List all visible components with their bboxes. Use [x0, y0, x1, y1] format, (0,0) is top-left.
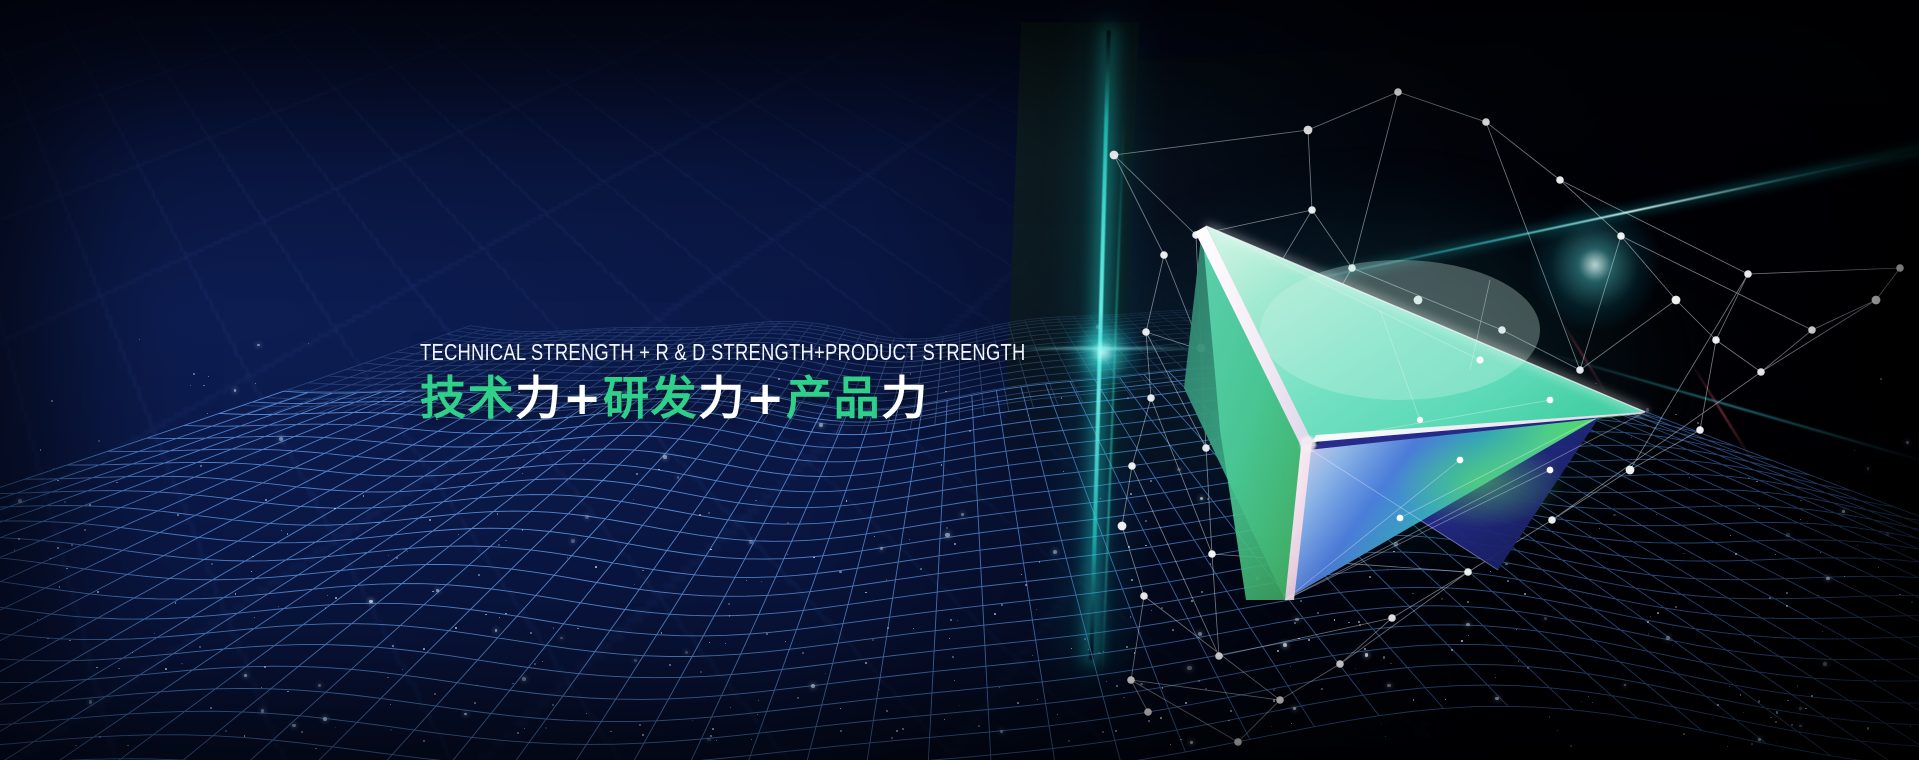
- particle-dot: [278, 606, 280, 608]
- particle-dot: [1570, 745, 1572, 747]
- particle-dot: [99, 736, 101, 738]
- particle-dot: [716, 740, 717, 741]
- particle-dot: [66, 568, 68, 570]
- particle-dot: [1797, 685, 1798, 686]
- headline-segment-5: 力: [881, 371, 929, 425]
- particle-dot: [954, 680, 955, 681]
- particle-dot: [96, 667, 97, 668]
- particle-dot: [1911, 601, 1913, 603]
- particle-dot: [1098, 652, 1100, 654]
- particle-dot: [1592, 702, 1593, 703]
- particle-dot: [1867, 727, 1869, 729]
- particle-dot: [692, 720, 694, 722]
- particle-dot: [261, 687, 263, 689]
- particle-dot: [534, 663, 536, 665]
- particle-dot: [1776, 711, 1778, 713]
- particle-dot: [758, 700, 759, 701]
- particle-dot: [363, 495, 365, 497]
- particle-dot: [477, 685, 478, 686]
- particle-dot: [751, 739, 752, 740]
- particle-dot: [390, 729, 392, 731]
- particle-dot: [97, 591, 99, 593]
- particle-dot: [1822, 631, 1823, 632]
- particle-dot: [1787, 700, 1789, 702]
- particle-dot: [1657, 612, 1659, 614]
- particle-dot: [872, 639, 874, 641]
- particle-dot: [264, 666, 266, 668]
- particle-dot: [1032, 655, 1033, 656]
- particle-dot: [40, 449, 42, 451]
- particle-dot: [255, 383, 256, 384]
- particle-dot: [18, 499, 22, 503]
- particle-dot: [1770, 717, 1771, 718]
- particle-dot: [699, 514, 701, 516]
- particle-dot: [1844, 576, 1846, 578]
- particle-dot: [1390, 663, 1392, 665]
- particle-dot: [1334, 619, 1336, 621]
- particle-dot: [1037, 699, 1038, 700]
- particle-dot: [423, 740, 425, 742]
- particle-dot: [766, 633, 768, 635]
- particle-dot: [1468, 635, 1469, 636]
- particle-dot: [429, 519, 430, 520]
- particle-dot: [261, 709, 265, 713]
- particle-dot: [1381, 723, 1382, 724]
- particle-dot: [369, 600, 373, 604]
- particle-dot: [909, 539, 910, 540]
- particle-dot: [265, 499, 267, 501]
- particle-dot: [1775, 721, 1777, 723]
- particle-dot: [879, 689, 880, 690]
- particle-dot: [251, 571, 252, 572]
- particle-dot: [281, 530, 282, 531]
- particle-dot: [498, 544, 500, 546]
- particle-dot: [710, 735, 712, 737]
- particle-dot: [1036, 609, 1037, 610]
- particle-dot: [458, 534, 459, 535]
- particle-dot: [1518, 660, 1519, 661]
- particle-dot: [1758, 700, 1760, 702]
- particle-dot: [1017, 702, 1019, 704]
- particle-dot: [1102, 731, 1104, 733]
- particle-dot: [1805, 708, 1806, 709]
- particle-dot: [396, 557, 398, 559]
- particle-dot: [193, 373, 194, 374]
- particle-dot: [1134, 652, 1136, 654]
- particle-dot: [887, 627, 889, 629]
- particle-dot: [292, 724, 296, 728]
- particle-dot: [1321, 688, 1323, 690]
- particle-dot: [402, 669, 403, 670]
- particle-dot: [950, 619, 952, 621]
- particle-dot: [485, 614, 487, 616]
- particle-dot: [71, 544, 73, 546]
- particle-dot: [517, 732, 519, 734]
- particle-dot: [1466, 623, 1470, 627]
- particle-dot: [1786, 605, 1788, 607]
- particle-dot: [1025, 584, 1027, 586]
- particle-dot: [1126, 646, 1128, 648]
- particle-dot: [118, 668, 120, 670]
- particle-dot: [1495, 677, 1496, 678]
- particle-dot: [1198, 632, 1202, 636]
- particle-dot: [610, 731, 611, 732]
- particle-dot: [944, 719, 945, 720]
- particle-dot: [522, 473, 523, 474]
- particle-dot: [1365, 653, 1368, 656]
- particle-dot: [1727, 746, 1728, 747]
- particle-dot: [1791, 724, 1793, 726]
- particle-dot: [874, 536, 875, 537]
- particle-dot: [1820, 552, 1821, 553]
- particle-dot: [545, 727, 547, 729]
- particle-dot: [165, 668, 167, 670]
- particle-dot: [1842, 510, 1845, 513]
- particle-dot: [50, 558, 51, 559]
- particle-dot: [1811, 695, 1813, 697]
- particle-dot: [1817, 595, 1819, 597]
- particle-dot: [1205, 688, 1207, 690]
- particle-dot: [802, 652, 804, 654]
- particle-dot: [1683, 733, 1685, 735]
- hero-eyebrow: TECHNICAL STRENGTH + R & D STRENGTH+PROD…: [420, 341, 1025, 364]
- particle-dot: [57, 480, 59, 482]
- particle-dot: [728, 603, 730, 605]
- particle-dot: [499, 617, 500, 618]
- particle-dot: [1358, 621, 1360, 623]
- particle-dot: [323, 717, 327, 721]
- particle-dot: [18, 538, 19, 539]
- particle-dot: [325, 607, 327, 609]
- particle-dot: [825, 673, 826, 674]
- particle-dot: [978, 725, 980, 727]
- particle-dot: [1775, 554, 1776, 555]
- particle-dot: [1106, 681, 1107, 682]
- particle-dot: [663, 455, 667, 459]
- particle-dot: [203, 385, 205, 387]
- particle-dot: [199, 646, 201, 648]
- particle-dot: [392, 645, 394, 647]
- particle-dot: [712, 728, 714, 730]
- particle-dot: [69, 640, 71, 642]
- particle-dot: [1549, 716, 1550, 717]
- particle-dot: [1355, 668, 1356, 669]
- particle-dot: [761, 581, 762, 582]
- particle-dot: [571, 539, 575, 543]
- particle-dot: [1053, 550, 1057, 554]
- particle-dot: [952, 656, 953, 657]
- particle-dot: [257, 344, 260, 347]
- particle-dot: [787, 554, 788, 555]
- particle-dot: [1740, 694, 1741, 695]
- particle-dot: [969, 430, 971, 432]
- particle-dot: [301, 731, 303, 733]
- particle-dot: [1088, 649, 1089, 650]
- particle-dot: [1198, 680, 1200, 682]
- particle-dot: [1730, 535, 1731, 536]
- particle-dot: [636, 473, 638, 475]
- particle-dot: [1185, 702, 1187, 704]
- particle-dot: [811, 684, 815, 688]
- particle-dot: [583, 459, 585, 461]
- particle-dot: [530, 632, 532, 634]
- particle-dot: [658, 469, 660, 471]
- particle-dot: [787, 522, 789, 524]
- particle-dot: [1291, 723, 1292, 724]
- particle-dot: [132, 652, 134, 654]
- particle-dot: [335, 727, 336, 728]
- particle-dot: [407, 551, 408, 552]
- particle-dot: [954, 543, 956, 545]
- particle-dot: [1857, 545, 1858, 546]
- particle-dot: [1298, 638, 1300, 640]
- particle-dot: [1387, 684, 1391, 688]
- particle-dot: [1878, 567, 1880, 569]
- particle-dot: [1230, 710, 1232, 712]
- particle-dot: [755, 500, 757, 502]
- particle-dot: [1650, 616, 1651, 617]
- particle-dot: [840, 730, 842, 732]
- particle-dot: [1516, 629, 1517, 630]
- particle-dot: [730, 707, 731, 708]
- particle-dot: [423, 648, 425, 650]
- particle-dot: [1170, 744, 1172, 746]
- particle-dot: [1228, 720, 1230, 722]
- particle-dot: [1899, 594, 1901, 596]
- particle-dot: [957, 620, 958, 621]
- hero-headline: 技术力+研发力+产品力: [420, 375, 1177, 421]
- particle-dot: [945, 533, 949, 537]
- particle-dot: [1084, 638, 1086, 640]
- particle-dot: [633, 499, 634, 500]
- particle-dot: [785, 641, 786, 642]
- particle-dot: [1647, 621, 1649, 623]
- particle-dot: [710, 549, 711, 550]
- particle-dot: [181, 663, 183, 665]
- particle-dot: [327, 595, 328, 596]
- headline-segment-4: 产品: [786, 371, 881, 425]
- particle-dot: [1364, 648, 1366, 650]
- particle-dot: [994, 613, 996, 615]
- particle-dot: [497, 513, 499, 515]
- particle-dot: [865, 592, 866, 593]
- particle-dot: [1445, 699, 1446, 700]
- particle-dot: [949, 638, 950, 639]
- hero-copy: TECHNICAL STRENGTH + R & D STRENGTH+PROD…: [420, 341, 1177, 421]
- particle-dot: [661, 632, 663, 634]
- particle-dot: [1769, 597, 1771, 599]
- particle-dot: [89, 504, 91, 506]
- particle-dot: [234, 389, 237, 392]
- particle-dot: [1751, 743, 1753, 745]
- particle-dot: [1290, 666, 1291, 667]
- particle-dot: [839, 571, 841, 573]
- particle-dot: [1867, 467, 1870, 470]
- particle-dot: [1160, 717, 1162, 719]
- particle-dot: [1854, 450, 1855, 451]
- particle-dot: [757, 714, 758, 715]
- particle-dot: [434, 693, 436, 695]
- particle-dot: [33, 682, 34, 683]
- particle-dot: [1748, 477, 1750, 479]
- particle-dot: [585, 515, 589, 519]
- particle-dot: [552, 704, 554, 706]
- particle-dot: [315, 748, 317, 750]
- particle-dot: [185, 620, 186, 621]
- particle-dot: [1754, 641, 1755, 642]
- particle-dot: [252, 556, 254, 558]
- particle-dot: [1581, 701, 1583, 703]
- particle-dot: [634, 584, 635, 585]
- particle-dot: [388, 555, 389, 556]
- particle-dot: [1071, 648, 1073, 650]
- particle-dot: [84, 529, 86, 531]
- particle-dot: [1000, 730, 1003, 733]
- particle-dot: [1359, 624, 1361, 626]
- particle-dot: [200, 465, 202, 467]
- particle-dot: [98, 440, 100, 442]
- particle-dot: [432, 591, 434, 593]
- particle-dot: [1786, 533, 1790, 537]
- headline-segment-3: 力+: [698, 371, 786, 425]
- particle-dot: [891, 737, 893, 739]
- particle-dot: [1273, 689, 1275, 691]
- particle-dot: [729, 615, 731, 617]
- particle-dot: [1906, 441, 1909, 444]
- particle-dot: [1148, 720, 1150, 722]
- particle-dot: [225, 730, 227, 732]
- particle-dot: [634, 659, 637, 662]
- particle-dot: [749, 540, 753, 544]
- particle-dot: [1317, 612, 1319, 614]
- particle-dot: [1115, 730, 1117, 732]
- particle-dot: [642, 734, 644, 736]
- particle-dot: [1140, 683, 1143, 686]
- particle-dot: [1800, 519, 1801, 520]
- particle-dot: [1786, 592, 1788, 594]
- particle-dot: [1495, 697, 1499, 701]
- particle-dot: [999, 687, 1000, 688]
- particle-dot: [1294, 622, 1296, 624]
- particle-dot: [1823, 662, 1827, 666]
- particle-dot: [474, 702, 476, 704]
- particle-dot: [639, 724, 641, 726]
- particle-dot: [1385, 736, 1386, 737]
- particle-dot: [1057, 714, 1059, 716]
- particle-dot: [464, 713, 467, 716]
- particle-dot: [1273, 701, 1275, 703]
- particle-dot: [211, 563, 213, 565]
- particle-dot: [1544, 617, 1547, 620]
- particle-dot: [913, 628, 914, 629]
- particle-dot: [1648, 633, 1649, 634]
- particle-dot: [1123, 697, 1125, 699]
- particle-dot: [677, 476, 680, 479]
- particle-dot: [700, 671, 702, 673]
- particle-dot: [89, 700, 93, 704]
- particle-dot: [57, 547, 59, 549]
- particle-dot: [1666, 636, 1670, 640]
- particle-dot: [1068, 740, 1070, 742]
- particle-dot: [685, 651, 688, 654]
- particle-dot: [920, 568, 922, 570]
- particle-dot: [14, 549, 15, 550]
- particle-dot: [1740, 474, 1741, 475]
- particle-dot: [1557, 730, 1558, 731]
- particle-dot: [1874, 680, 1875, 681]
- particle-dot: [387, 677, 389, 679]
- particle-dot: [642, 570, 644, 572]
- particle-dot: [708, 512, 710, 514]
- particle-dot: [1729, 686, 1730, 687]
- particle-dot: [961, 513, 964, 516]
- particle-dot: [560, 637, 563, 640]
- headline-segment-2: 研发: [603, 371, 698, 425]
- particle-dot: [1880, 378, 1882, 380]
- particle-dot: [1001, 604, 1003, 606]
- particle-dot: [244, 674, 247, 677]
- particle-dot: [1271, 726, 1272, 727]
- particle-dot: [1776, 742, 1777, 743]
- particle-dot: [101, 547, 102, 548]
- particle-dot: [1116, 685, 1118, 687]
- particle-dot: [244, 735, 246, 737]
- particle-dot: [1021, 574, 1022, 575]
- particle-dot: [1826, 577, 1830, 581]
- particle-dot: [1039, 561, 1041, 563]
- particle-dot: [37, 619, 38, 620]
- particle-dot: [553, 627, 554, 628]
- particle-dot: [495, 629, 498, 632]
- particle-dot: [53, 468, 54, 469]
- particle-dot: [912, 469, 913, 470]
- particle-dot: [455, 627, 457, 629]
- particle-dot: [1756, 481, 1758, 483]
- particle-dot: [390, 704, 391, 705]
- particle-dot: [524, 728, 525, 729]
- particle-dot: [567, 557, 569, 559]
- particle-dot: [1383, 656, 1385, 658]
- particle-dot: [287, 533, 288, 534]
- particle-dot: [512, 683, 514, 685]
- particle-dot: [335, 597, 336, 598]
- particle-dot: [1799, 725, 1802, 728]
- particle-dot: [1277, 650, 1279, 652]
- particle-dot: [1103, 651, 1104, 652]
- particle-dot: [1800, 500, 1802, 502]
- headline-segment-1: 力+: [515, 371, 603, 425]
- particle-dot: [896, 730, 898, 732]
- particle-dot: [190, 385, 192, 387]
- particle-dot: [235, 593, 237, 595]
- particle-dot: [1717, 704, 1719, 706]
- particle-dot: [586, 713, 587, 714]
- particle-dot: [59, 586, 60, 587]
- particle-dot: [254, 617, 255, 618]
- particle-dot: [1151, 610, 1152, 611]
- particle-dot: [886, 710, 888, 712]
- particle-dot: [116, 482, 117, 483]
- particle-dot: [51, 400, 53, 402]
- particle-dot: [318, 684, 321, 687]
- particle-dot: [154, 633, 155, 634]
- particle-dot: [522, 677, 526, 681]
- hero-banner: TECHNICAL STRENGTH + R & D STRENGTH+PROD…: [0, 0, 1919, 760]
- particle-dot: [505, 540, 507, 542]
- particle-dot: [846, 500, 847, 501]
- particle-dot: [902, 728, 904, 730]
- particle-dot: [1187, 666, 1191, 670]
